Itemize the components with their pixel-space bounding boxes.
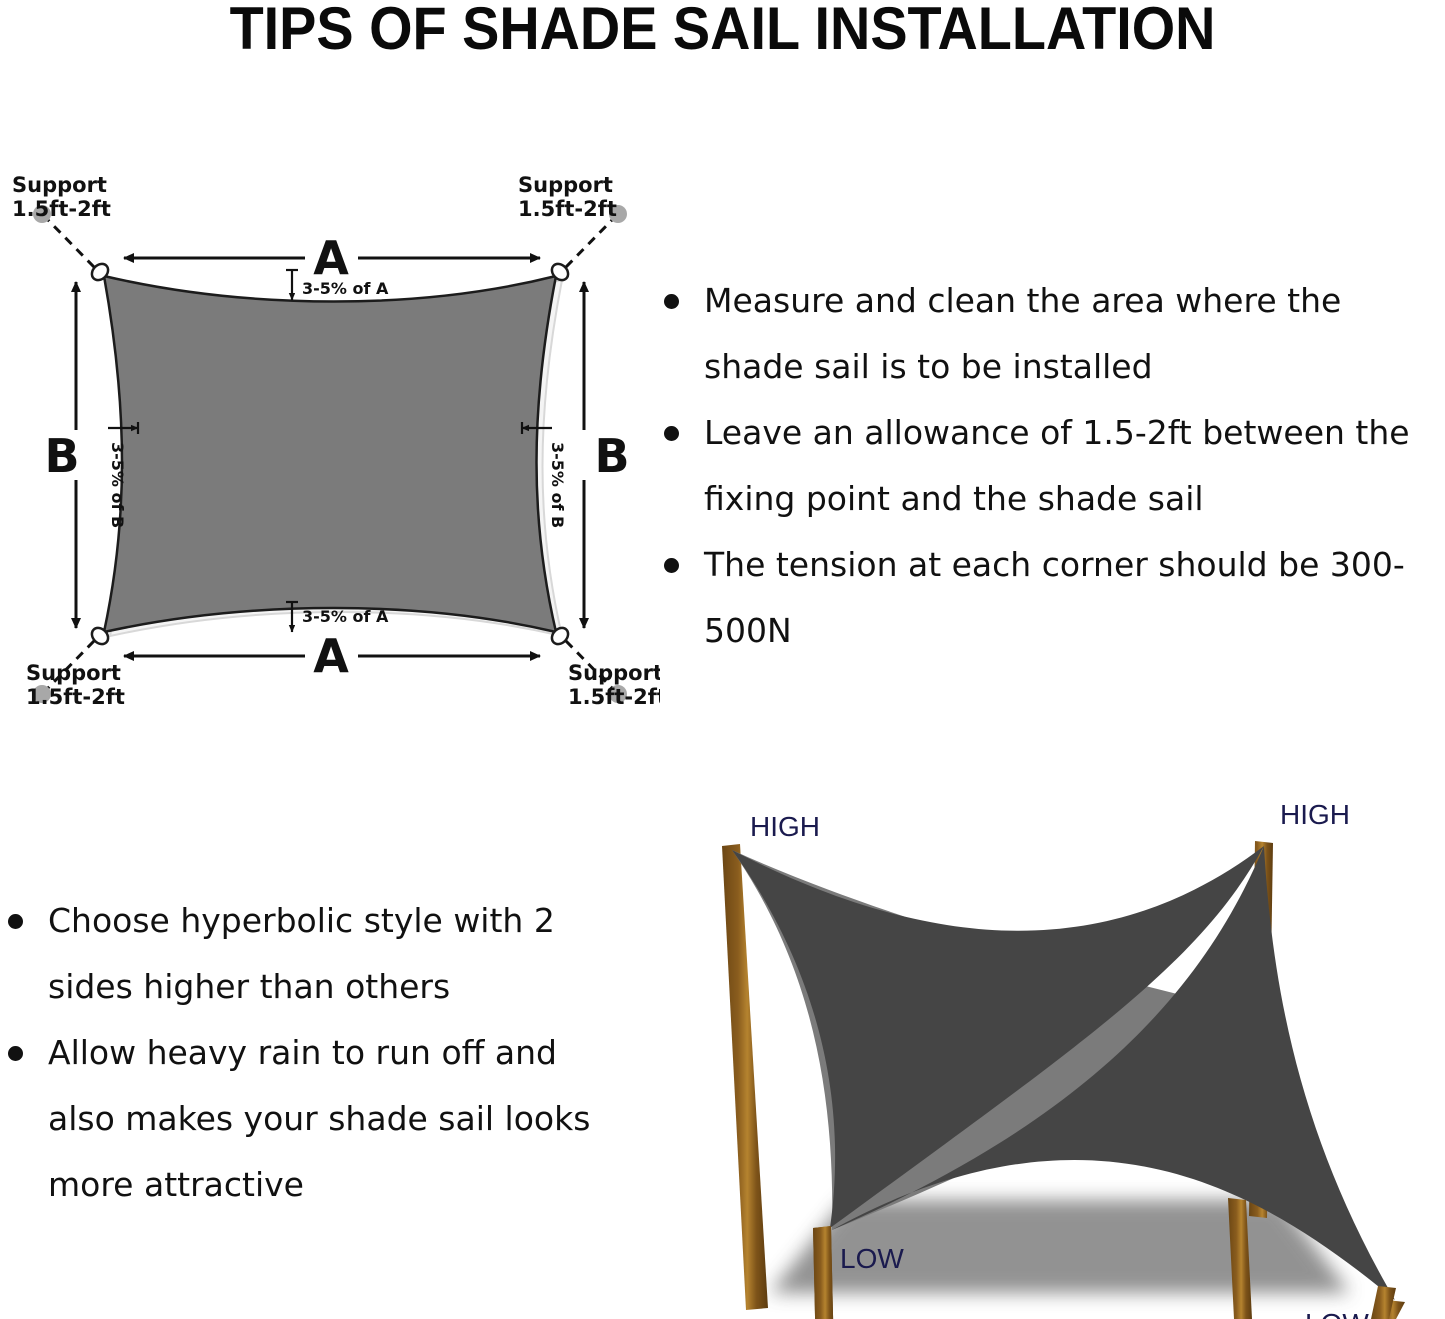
post-high-left bbox=[722, 844, 768, 1310]
infographic-page: TIPS OF SHADE SAIL INSTALLATION bbox=[0, 0, 1445, 1319]
label-high-right: HIGH bbox=[1280, 799, 1350, 830]
curve-note-left-label: 3-5% of B bbox=[108, 442, 127, 528]
leader-top-right bbox=[566, 220, 612, 267]
dimension-a-bottom: A bbox=[124, 629, 540, 683]
support-label-bottom-left-line1: Support bbox=[26, 661, 121, 685]
installation-tips-list: Measure and clean the area where the sha… bbox=[648, 268, 1445, 664]
label-low-left: LOW bbox=[840, 1243, 904, 1274]
support-label-bottom-right-line1: Support bbox=[568, 661, 660, 685]
support-label-bottom-left-line2: 1.5ft-2ft bbox=[26, 685, 125, 709]
label-high-left: HIGH bbox=[750, 811, 820, 842]
page-title: TIPS OF SHADE SAIL INSTALLATION bbox=[51, 0, 1395, 62]
list-item: Choose hyperbolic style with 2 sides hig… bbox=[0, 888, 630, 1020]
support-label-top-right-line2: 1.5ft-2ft bbox=[518, 197, 617, 221]
list-item: Measure and clean the area where the sha… bbox=[648, 268, 1445, 400]
bullet-dot-icon bbox=[664, 426, 679, 441]
dimension-b-left: B bbox=[44, 282, 79, 628]
leader-top-left bbox=[48, 220, 94, 267]
sail-shape-group bbox=[104, 276, 562, 636]
dim-b-left-label: B bbox=[44, 429, 79, 483]
dim-a-bottom-label: A bbox=[313, 629, 349, 683]
support-label-top-right-line1: Support bbox=[518, 173, 613, 197]
dimension-b-right: B bbox=[584, 282, 630, 628]
support-label-bottom-right-line2: 1.5ft-2ft bbox=[568, 685, 660, 709]
bullet-dot-icon bbox=[664, 558, 679, 573]
label-low-right: LOW bbox=[1305, 1308, 1369, 1319]
curve-note-right-label: 3-5% of B bbox=[548, 442, 567, 528]
list-item-label: Measure and clean the area where the sha… bbox=[704, 268, 1445, 400]
support-label-top-left-line2: 1.5ft-2ft bbox=[12, 197, 111, 221]
sail-body bbox=[104, 276, 556, 632]
bullet-dot-icon bbox=[8, 914, 23, 929]
list-item-label: Choose hyperbolic style with 2 sides hig… bbox=[48, 888, 630, 1020]
dimension-a-top: A bbox=[124, 231, 540, 285]
list-item: Leave an allowance of 1.5-2ft between th… bbox=[648, 400, 1445, 532]
dim-a-top-label: A bbox=[313, 231, 349, 285]
hyperbolic-sail-illustration: HIGH HIGH LOW LOW bbox=[660, 788, 1445, 1319]
curve-note-bottom-label: 3-5% of A bbox=[302, 607, 389, 626]
list-item: The tension at each corner should be 300… bbox=[648, 532, 1445, 664]
support-label-top-left-line1: Support bbox=[12, 173, 107, 197]
hyperbolic-tips-list: Choose hyperbolic style with 2 sides hig… bbox=[0, 888, 630, 1218]
bullet-dot-icon bbox=[8, 1046, 23, 1061]
list-item: Allow heavy rain to run off and also mak… bbox=[0, 1020, 630, 1218]
bullet-dot-icon bbox=[664, 294, 679, 309]
curve-note-bottom: 3-5% of A bbox=[286, 602, 389, 632]
list-item-label: Allow heavy rain to run off and also mak… bbox=[48, 1020, 630, 1218]
rectangular-sail-diagram: Support 1.5ft-2ft Support 1.5ft-2ft Supp… bbox=[0, 160, 660, 730]
list-item-label: Leave an allowance of 1.5-2ft between th… bbox=[704, 400, 1445, 532]
dim-b-right-label: B bbox=[594, 429, 629, 483]
curve-note-top-label: 3-5% of A bbox=[302, 279, 389, 298]
list-item-label: The tension at each corner should be 300… bbox=[704, 532, 1445, 664]
